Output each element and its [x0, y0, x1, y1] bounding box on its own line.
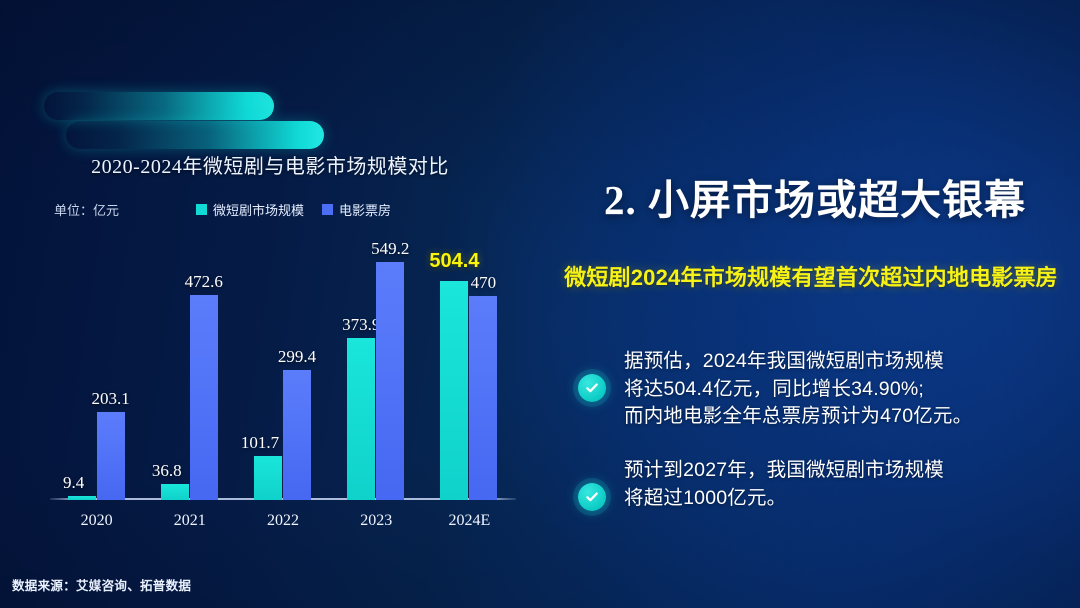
- bar-label-2024E-boxoffice: 470: [471, 273, 497, 293]
- chart-unit-label: 单位：亿元: [54, 200, 119, 219]
- bar-label-2024E-duanju: 504.4: [429, 250, 479, 273]
- chart-group-2020: 9.4203.12020: [60, 240, 134, 500]
- source-note: 数据来源：艾媒咨询、拓普数据: [12, 575, 191, 594]
- check-circle-icon: [578, 483, 606, 511]
- chart-plot-area: 9.4203.1202036.8472.62021101.7299.420223…: [50, 240, 516, 500]
- decorative-pill-top: [44, 92, 274, 120]
- legend-label-boxoffice: 电影票房: [339, 200, 391, 219]
- chart-legend: 微短剧市场规模 电影票房: [196, 200, 391, 219]
- x-axis-label-2024E: 2024E: [432, 512, 506, 530]
- legend-item-duanju: 微短剧市场规模: [196, 200, 304, 219]
- bar-2024E-boxoffice[interactable]: [469, 296, 497, 500]
- page-subtitle: 微短剧2024年市场规模有望首次超过内地电影票房: [546, 260, 1076, 292]
- bar-label-2020-duanju: 9.4: [63, 473, 84, 493]
- bar-2020-duanju[interactable]: [68, 496, 96, 500]
- list-item-text: 预计到2027年，我国微短剧市场规模 将超过1000亿元。: [624, 457, 944, 512]
- bar-2021-boxoffice[interactable]: [190, 295, 218, 500]
- bullet-list: 据预估，2024年我国微短剧市场规模 将达504.4亿元，同比增长34.90%;…: [578, 348, 1048, 538]
- legend-swatch-boxoffice: [322, 204, 333, 215]
- bar-label-2021-boxoffice: 472.6: [185, 272, 223, 292]
- bar-label-2022-duanju: 101.7: [241, 433, 279, 453]
- x-axis-label-2021: 2021: [153, 512, 227, 530]
- bar-2023-duanju[interactable]: [347, 338, 375, 500]
- list-item-text: 据预估，2024年我国微短剧市场规模 将达504.4亿元，同比增长34.90%;…: [624, 348, 972, 431]
- bar-label-2021-duanju: 36.8: [152, 461, 182, 481]
- decorative-pill-bottom: [66, 121, 324, 149]
- list-item: 据预估，2024年我国微短剧市场规模 将达504.4亿元，同比增长34.90%;…: [578, 348, 1048, 431]
- decorative-pills: [44, 92, 344, 154]
- legend-item-boxoffice: 电影票房: [322, 200, 391, 219]
- chart-group-2024E: 504.44702024E: [432, 240, 506, 500]
- chart-title: 2020-2024年微短剧与电影市场规模对比: [0, 150, 540, 179]
- bar-2024E-duanju[interactable]: [440, 281, 468, 500]
- bar-label-2023-duanju: 373.9: [342, 315, 380, 335]
- x-axis-label-2023: 2023: [339, 512, 413, 530]
- chart-group-2021: 36.8472.62021: [153, 240, 227, 500]
- bar-2022-boxoffice[interactable]: [283, 370, 311, 500]
- bar-label-2020-boxoffice: 203.1: [91, 389, 129, 409]
- bar-2023-boxoffice[interactable]: [376, 262, 404, 500]
- chart-group-2023: 373.9549.22023: [339, 240, 413, 500]
- bar-label-2023-boxoffice: 549.2: [371, 239, 409, 259]
- legend-label-duanju: 微短剧市场规模: [213, 200, 304, 219]
- bar-2022-duanju[interactable]: [254, 456, 282, 500]
- x-axis-label-2020: 2020: [60, 512, 134, 530]
- chart-group-2022: 101.7299.42022: [246, 240, 320, 500]
- bar-2020-boxoffice[interactable]: [97, 412, 125, 500]
- x-axis-label-2022: 2022: [246, 512, 320, 530]
- bar-label-2022-boxoffice: 299.4: [278, 347, 316, 367]
- slide-root: 2020-2024年微短剧与电影市场规模对比 单位：亿元 微短剧市场规模 电影票…: [0, 0, 1080, 608]
- list-item: 预计到2027年，我国微短剧市场规模 将超过1000亿元。: [578, 457, 1048, 512]
- check-circle-icon: [578, 374, 606, 402]
- chart-panel: 2020-2024年微短剧与电影市场规模对比 单位：亿元 微短剧市场规模 电影票…: [0, 150, 540, 550]
- bar-2021-duanju[interactable]: [161, 484, 189, 500]
- page-title: 2. 小屏市场或超大银幕: [560, 166, 1070, 226]
- legend-swatch-duanju: [196, 204, 207, 215]
